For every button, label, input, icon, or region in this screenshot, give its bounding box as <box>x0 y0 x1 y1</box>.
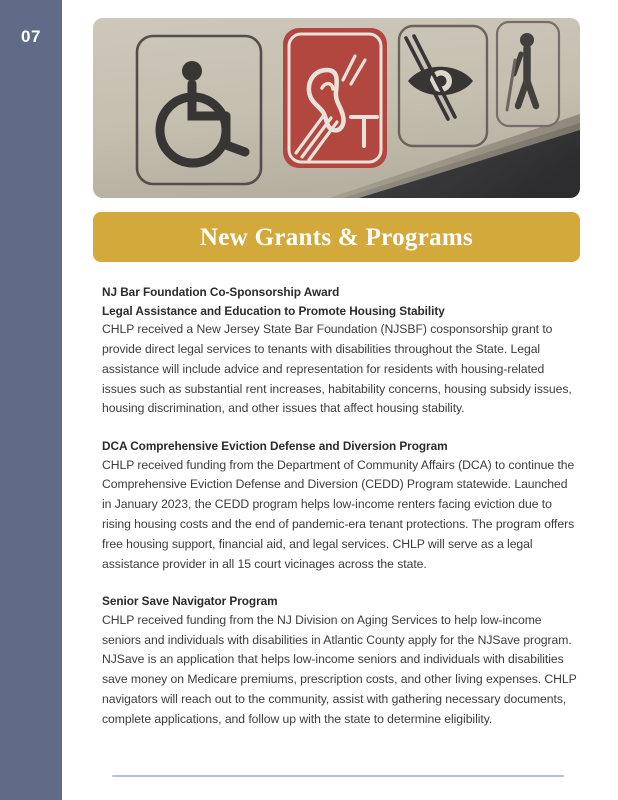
sidebar: 07 ANNUAL REPORT 2023 - 2024 COMMUNITY H… <box>0 0 62 800</box>
sidebar-report-label: ANNUAL REPORT 2023 - 2024 <box>0 265 62 277</box>
annual-report-page: 07 ANNUAL REPORT 2023 - 2024 COMMUNITY H… <box>0 0 618 800</box>
page-number: 07 <box>0 27 62 47</box>
grant-sections: NJ Bar Foundation Co-Sponsorship Award L… <box>102 283 580 748</box>
grant-section: Senior Save Navigator Program CHLP recei… <box>102 592 580 729</box>
grant-section-body: CHLP received a New Jersey State Bar Fou… <box>102 320 580 419</box>
grant-section-heading-line: Legal Assistance and Education to Promot… <box>102 302 580 321</box>
grant-section-heading-line: DCA Comprehensive Eviction Defense and D… <box>102 437 580 456</box>
grant-section-heading-line: Senior Save Navigator Program <box>102 592 580 611</box>
footer-divider <box>112 775 564 777</box>
accessibility-sign-illustration <box>93 18 580 198</box>
section-banner: New Grants & Programs <box>93 212 580 262</box>
grant-section-body: CHLP received funding from the NJ Divisi… <box>102 611 580 730</box>
grant-section: NJ Bar Foundation Co-Sponsorship Award L… <box>102 283 580 419</box>
grant-section-body: CHLP received funding from the Departmen… <box>102 456 580 575</box>
grant-section: DCA Comprehensive Eviction Defense and D… <box>102 437 580 574</box>
grant-section-heading-line: NJ Bar Foundation Co-Sponsorship Award <box>102 283 580 302</box>
sidebar-report-label-text: ANNUAL REPORT 2023 - 2024 <box>81 184 93 359</box>
accessibility-sign-photo <box>93 18 580 198</box>
sidebar-organization-label: COMMUNITY HEALTH LAW PROJECT <box>0 660 62 672</box>
banner-title: New Grants & Programs <box>200 225 473 250</box>
content-column: New Grants & Programs NJ Bar Foundation … <box>93 0 580 800</box>
